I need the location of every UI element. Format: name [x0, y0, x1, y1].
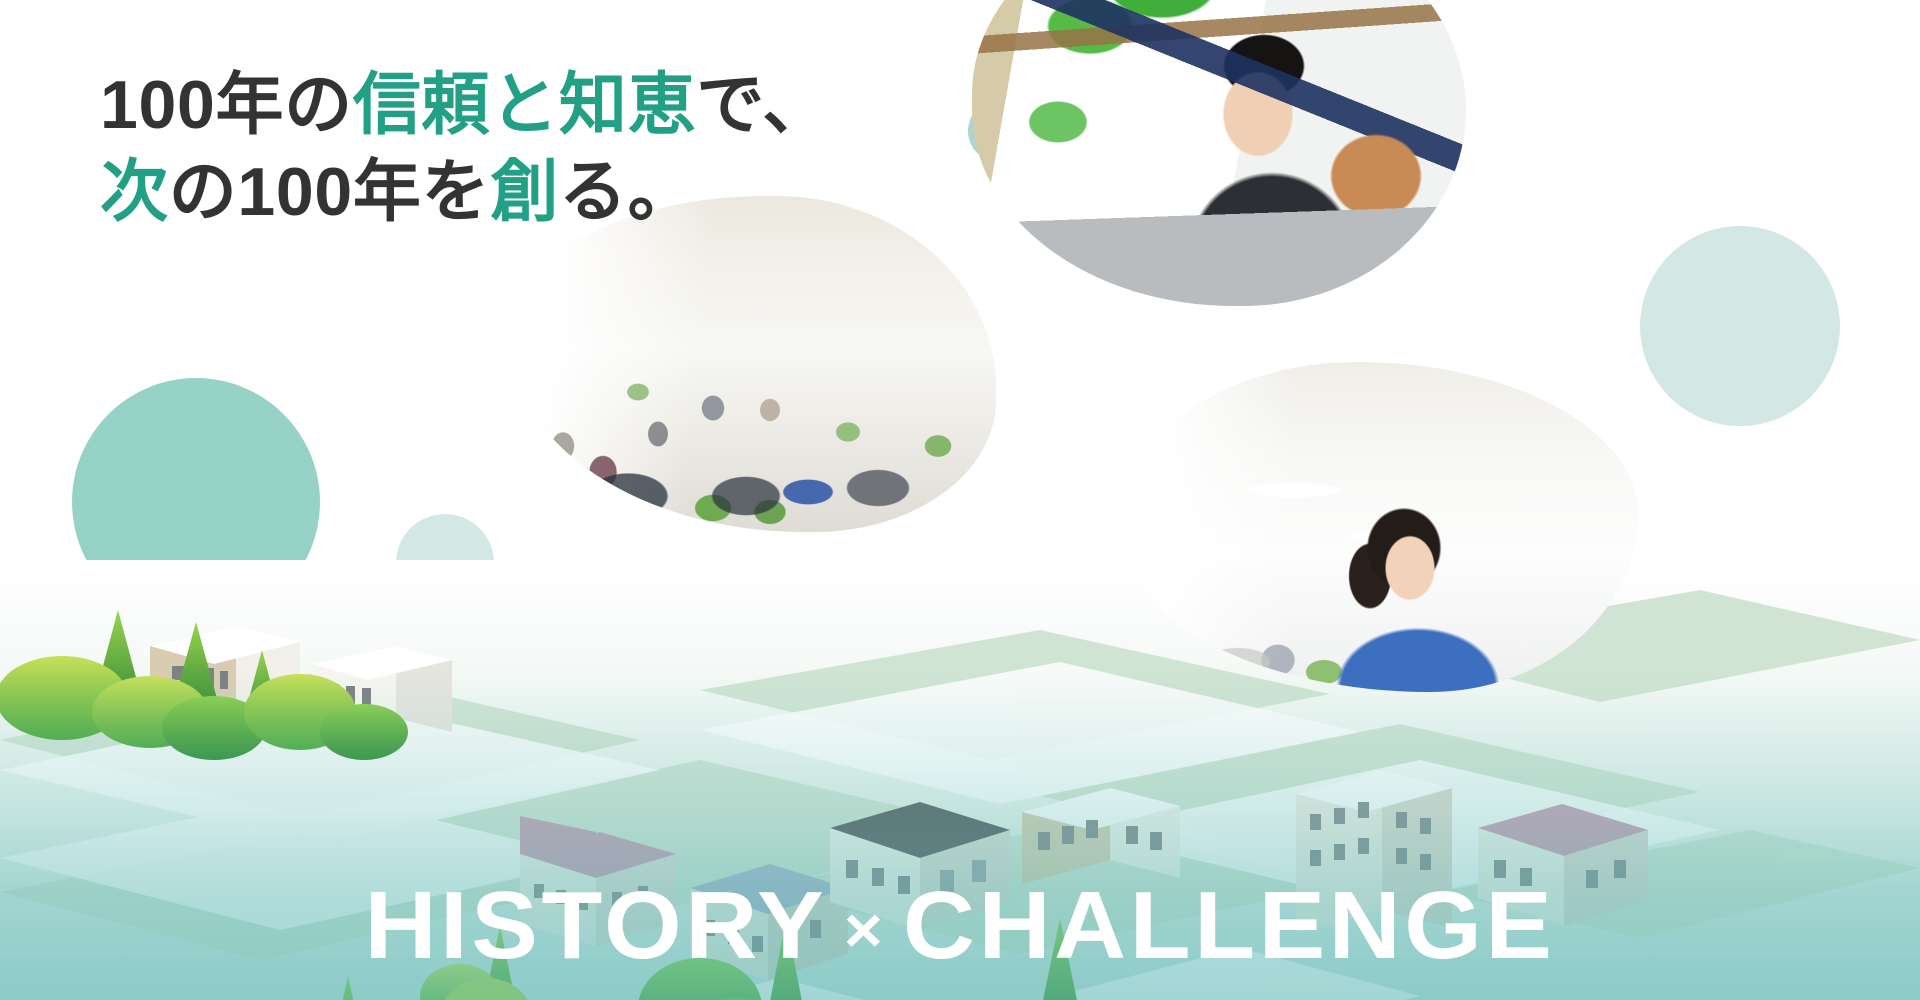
decor-circle-right-pale	[1640, 226, 1840, 426]
headline-l2-part-b: の100年を	[169, 154, 491, 230]
headline-l2-part-c: 創	[490, 154, 559, 230]
headline-l1-part-c: で、	[696, 67, 831, 143]
wordmark-challenge: CHALLENGE	[903, 872, 1556, 979]
wordmark-cross-icon: ×	[827, 894, 903, 966]
photo-male-employee-laptop	[972, 0, 1466, 306]
hero-banner: 100年の信頼と知恵で、 次の100年を創る。 HISTORY×CHALLENG…	[0, 0, 1920, 1000]
headline-line-1: 100年の信頼と知恵で、	[100, 62, 831, 149]
headline-l2-part-a: 次	[100, 154, 169, 230]
wordmark-history: HISTORY	[364, 872, 827, 979]
wordmark-history-challenge: HISTORY×CHALLENGE	[0, 878, 1920, 974]
headline-l1-part-a: 100年の	[100, 67, 353, 143]
headline-l2-part-d: る。	[559, 154, 696, 230]
headline-l1-part-b: 信頼と知恵	[353, 67, 696, 143]
page-headline: 100年の信頼と知恵で、 次の100年を創る。	[100, 62, 831, 236]
headline-line-2: 次の100年を創る。	[100, 149, 831, 236]
